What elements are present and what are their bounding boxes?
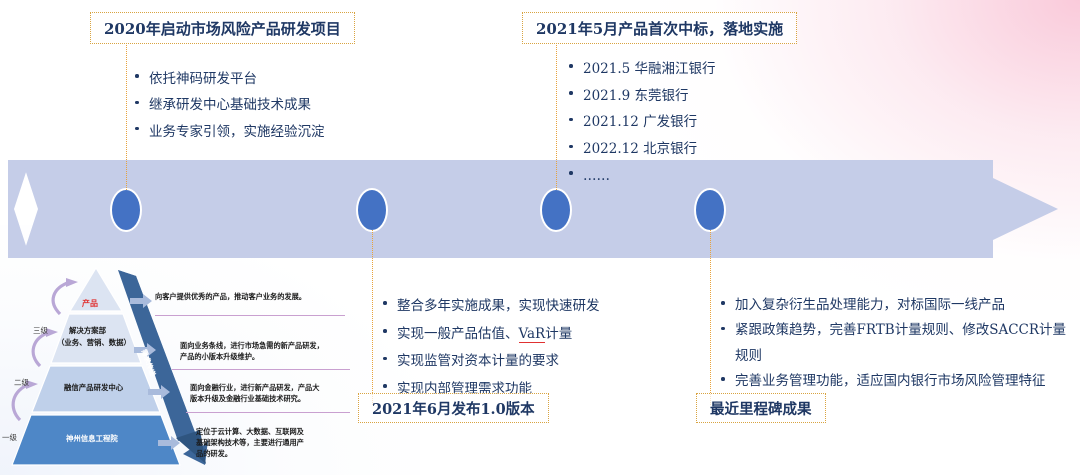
pyramid-description-4-line1: 定位于云计算、大数据、互联网及 — [196, 427, 304, 438]
pyramid-description-1-line1: 向客户提供优秀的产品，推动客户业务的发展。 — [155, 292, 306, 303]
pyramid-description-4: 定位于云计算、大数据、互联网及 基础架构技术等，主要进行通用产 品的研发。 — [196, 427, 304, 460]
pyramid-divider-1 — [155, 315, 345, 316]
pyramid-description-3-line1: 面向金融行业，进行新产品研发，产品大 — [190, 383, 319, 394]
card-milestone-title: 最近里程碑成果 — [710, 398, 812, 419]
release-bullet2-suffix: 计量 — [545, 326, 572, 342]
release-bullet2-prefix: 实现一般产品估值、 — [397, 326, 519, 342]
connector-release — [372, 230, 373, 405]
pyramid-diagram: 产品 解决方案部 （业务、营销、数据） 融信产品研发中心 神州信息工程院 三级 … — [0, 262, 350, 475]
card-bid-title-box: 2021年5月产品首次中标，落地实施 — [522, 12, 797, 44]
list-item: 继承研发中心基础技术成果 — [132, 92, 325, 118]
pyramid-description-2: 面向业务条线，进行市场急需的新产品研发， 产品的小版本升级维护。 — [180, 341, 324, 363]
pyramid-description-4-line3: 品的研发。 — [196, 449, 304, 460]
list-item: 2021.12 广发银行 — [566, 109, 716, 136]
timeline-node-release[interactable] — [356, 188, 388, 232]
slide-canvas: 2020年启动市场风险产品研发项目 依托神码研发平台 继承研发中心基础技术成果 … — [0, 0, 1080, 475]
card-bid-bullets: 2021.5 华融湘江银行 2021.9 东莞银行 2021.12 广发银行 2… — [566, 56, 716, 190]
card-launch-title-box: 2020年启动市场风险产品研发项目 — [90, 12, 355, 44]
timeline-node-launch[interactable] — [110, 188, 142, 232]
card-milestone-bullets: 加入复杂衍生品处理能力，对标国际一线产品 紧跟政策趋势，完善FRTB计量规则、修… — [718, 293, 1070, 395]
connector-launch — [126, 45, 127, 190]
pyramid-divider-2 — [172, 369, 350, 370]
pyramid-description-4-line2: 基础架构技术等，主要进行通用产 — [196, 438, 304, 449]
list-item: 2022.12 北京银行 — [566, 136, 716, 163]
timeline-node-bid[interactable] — [540, 188, 572, 232]
pyramid-level-2-line1: 解决方案部 — [69, 326, 106, 337]
card-release-title: 2021年6月发布1.0版本 — [372, 398, 535, 419]
list-item: 紧跟政策趋势，完善FRTB计量规则、修改SACCR计量规则 — [718, 318, 1070, 369]
card-release-bullets: 整合多年实施成果，实现快速研发 实现一般产品估值、VaR计量 实现监管对资本计量… — [380, 293, 600, 404]
list-item: 2021.5 华融湘江银行 — [566, 56, 716, 83]
pyramid-description-2-line2: 产品的小版本升级维护。 — [180, 352, 324, 363]
connector-bid — [556, 45, 557, 190]
card-release-title-box: 2021年6月发布1.0版本 — [358, 393, 549, 423]
card-launch-bullets: 依托神码研发平台 继承研发中心基础技术成果 业务专家引领，实施经验沉淀 — [132, 66, 325, 145]
list-item: 加入复杂衍生品处理能力，对标国际一线产品 — [718, 293, 1070, 318]
timeline-node-milestone[interactable] — [694, 188, 726, 232]
list-item: 实现一般产品估值、VaR计量 — [380, 321, 600, 349]
list-item: …… — [566, 163, 716, 190]
pyramid-description-3: 面向金融行业，进行新产品研发，产品大 版本升级及金融行业基础技术研究。 — [190, 383, 319, 405]
pyramid-description-1: 向客户提供优秀的产品，推动客户业务的发展。 — [155, 292, 306, 303]
pyramid-tier-3-label: 三级 — [33, 325, 48, 336]
pyramid-level-4-label: 神州信息工程院 — [66, 434, 118, 445]
card-milestone-title-box: 最近里程碑成果 — [696, 393, 826, 423]
list-item: 实现监管对资本计量的要求 — [380, 348, 600, 376]
card-launch-title: 2020年启动市场风险产品研发项目 — [104, 18, 341, 39]
list-item: 整合多年实施成果，实现快速研发 — [380, 293, 600, 321]
connector-milestone — [710, 230, 711, 405]
list-item: 2021.9 东莞银行 — [566, 83, 716, 110]
card-bid-title: 2021年5月产品首次中标，落地实施 — [536, 18, 783, 39]
pyramid-description-2-line1: 面向业务条线，进行市场急需的新产品研发， — [180, 341, 324, 352]
pyramid-level-1-label: 产品 — [82, 298, 98, 309]
list-item: 完善业务管理功能，适应国内银行市场风险管理特征 — [718, 369, 1070, 394]
pyramid-level-2-line2: （业务、营销、数据） — [57, 338, 131, 349]
pyramid-tier-2-label: 二级 — [14, 377, 29, 388]
release-bullet2-term: VaR — [519, 326, 546, 343]
list-item: 业务专家引领，实施经验沉淀 — [132, 119, 325, 145]
pyramid-divider-3 — [186, 412, 350, 413]
pyramid-level-3-label: 融信产品研发中心 — [64, 383, 123, 394]
pyramid-tier-1-label: 一级 — [2, 432, 17, 443]
pyramid-description-3-line2: 版本升级及金融行业基础技术研究。 — [190, 394, 319, 405]
list-item: 依托神码研发平台 — [132, 66, 325, 92]
